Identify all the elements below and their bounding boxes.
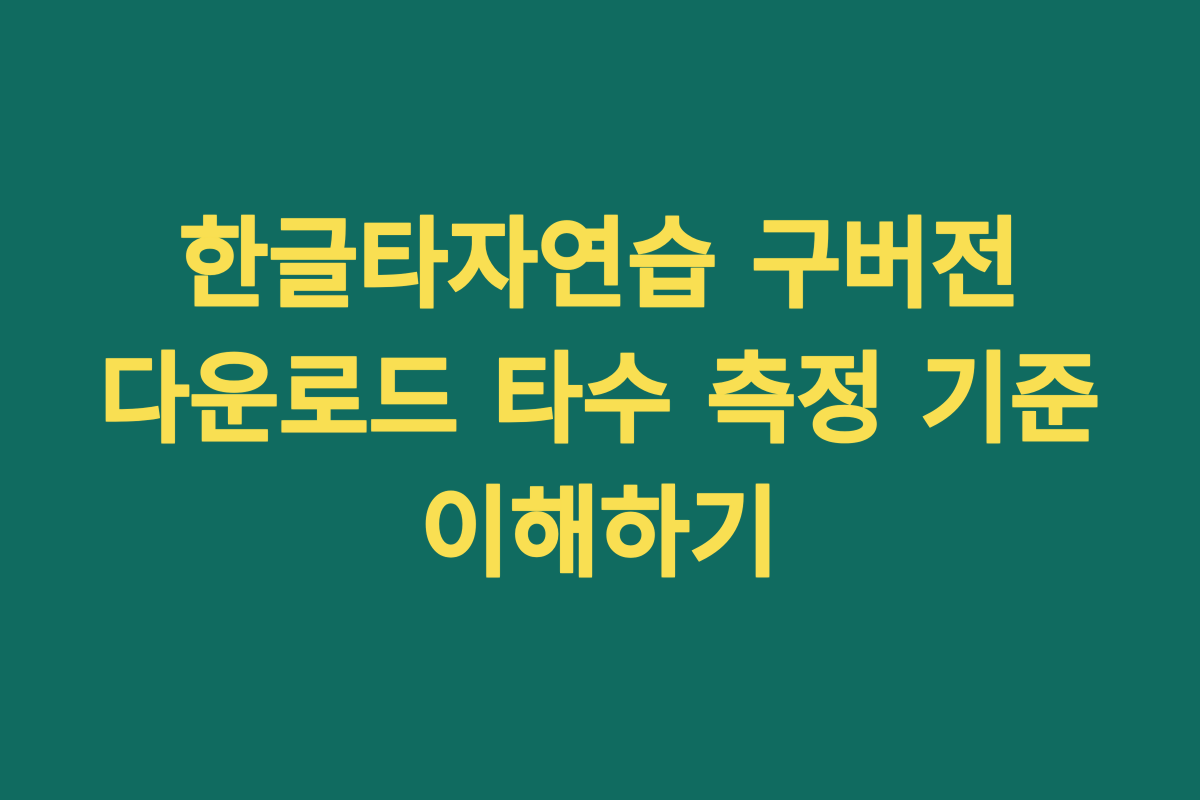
thumbnail-banner: 한글타자연습 구버전 다운로드 타수 측정 기준 이해하기: [0, 0, 1200, 800]
page-title: 한글타자연습 구버전 다운로드 타수 측정 기준 이해하기: [85, 198, 1115, 602]
